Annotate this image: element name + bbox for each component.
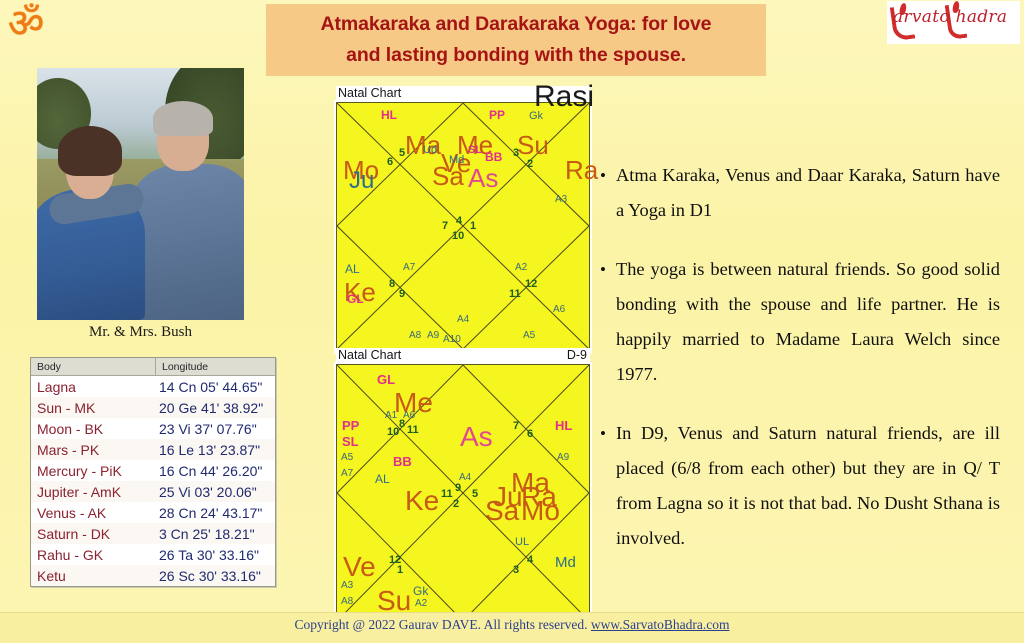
rasi-chart-block: Natal Chart Rasi MaMoJuMeVeSaAsSuRaKeMdU… <box>336 86 590 352</box>
title-banner: Atmakaraka and Darakaraka Yoga: for love… <box>266 4 766 76</box>
om-glyph: ॐ <box>8 4 44 44</box>
d9-chart-header: Natal Chart D-9 <box>336 348 590 364</box>
marker-bb: BB <box>393 455 412 468</box>
house-number: 11 <box>441 489 453 500</box>
house-number: 8 <box>399 419 405 430</box>
cell-body: Venus - AK <box>31 505 155 521</box>
planet-ju: Ju <box>349 169 374 193</box>
cell-longitude: 20 Ge 41' 38.92" <box>155 400 275 416</box>
copyright-text: Copyright @ 2022 Gaurav DAVE. All rights… <box>295 617 591 632</box>
house-number: 9 <box>455 483 461 494</box>
planet-sa: Sa <box>432 163 464 189</box>
house-number: 6 <box>527 429 533 440</box>
d9-chart-canvas[interactable]: MeAsKeMaJuRaSaMoVeSuMdULGkGLPPSLHLBBALA5… <box>336 364 590 624</box>
house-number: 10 <box>387 427 399 438</box>
bush-photo <box>37 68 244 320</box>
table-row: Ketu26 Sc 30' 33.16" <box>31 565 275 586</box>
marker-a7: A7 <box>341 469 353 479</box>
bullet-dot-icon: • <box>600 158 616 228</box>
table-row: Venus - AK28 Cn 24' 43.17" <box>31 502 275 523</box>
bullet-text: In D9, Venus and Saturn natural friends,… <box>616 416 1000 556</box>
planet-ve: Ve <box>343 553 376 581</box>
house-number: 10 <box>452 231 464 242</box>
bush-photo-figure: Mr. & Mrs. Bush <box>37 68 244 320</box>
house-number: 5 <box>472 489 478 500</box>
house-number: 2 <box>453 499 459 510</box>
house-number: 2 <box>527 159 533 170</box>
bullet-list: •Atma Karaka, Venus and Daar Karaka, Sat… <box>600 158 1000 580</box>
marker-al: AL <box>345 263 360 275</box>
cell-longitude: 26 Sc 30' 33.16" <box>155 568 275 584</box>
bullet-item: •In D9, Venus and Saturn natural friends… <box>600 416 1000 556</box>
marker-a5: A5 <box>341 453 353 463</box>
rasi-chart-title: Rasi <box>534 80 594 114</box>
bullet-item: •The yoga is between natural friends. So… <box>600 252 1000 392</box>
table-row: Rahu - GK26 Ta 30' 33.16" <box>31 544 275 565</box>
planet-gk: Gk <box>413 585 428 597</box>
bullet-dot-icon: • <box>600 252 616 392</box>
planet-md: Md <box>449 155 464 166</box>
planet-ke: Ke <box>405 487 439 515</box>
house-number: 7 <box>513 421 519 432</box>
cell-body: Lagna <box>31 379 155 395</box>
column-header-longitude: Longitude <box>155 358 275 375</box>
cell-body: Ketu <box>31 568 155 584</box>
marker-sl: SL <box>342 435 359 448</box>
logo-text: arvato hadra <box>893 7 1017 27</box>
table-row: Mars - PK16 Le 13' 23.87" <box>31 439 275 460</box>
marker-al: AL <box>375 473 390 485</box>
cell-longitude: 14 Cn 05' 44.65" <box>155 379 275 395</box>
cell-longitude: 16 Cn 44' 26.20" <box>155 463 275 479</box>
page-title-line2: and lasting bonding with the spouse. <box>346 40 686 71</box>
d9-chart-title: D-9 <box>567 348 587 362</box>
cell-body: Moon - BK <box>31 421 155 437</box>
d9-natal-label: Natal Chart <box>338 348 401 362</box>
marker-a8: A8 <box>409 331 421 341</box>
house-number: 3 <box>513 565 519 576</box>
table-row: Lagna14 Cn 05' 44.65" <box>31 376 275 397</box>
house-number: 7 <box>442 221 448 232</box>
planet-ra: Ra <box>565 157 598 183</box>
house-number: 9 <box>399 289 405 300</box>
cell-longitude: 16 Le 13' 23.87" <box>155 442 275 458</box>
planet-gl: GL <box>347 293 364 305</box>
table-row: Mercury - PiK16 Cn 44' 26.20" <box>31 460 275 481</box>
planet-ud: Ud <box>423 145 437 156</box>
bullet-text: Atma Karaka, Venus and Daar Karaka, Satu… <box>616 158 1000 228</box>
planet-su: Su <box>377 587 411 615</box>
marker-pp: PP <box>342 419 359 432</box>
planet-as: As <box>468 165 498 191</box>
page-title-line1: Atmakaraka and Darakaraka Yoga: for love <box>321 9 712 40</box>
rasi-natal-label: Natal Chart <box>338 86 401 100</box>
marker-pp: PP <box>489 109 505 121</box>
cell-longitude: 23 Vi 37' 07.76" <box>155 421 275 437</box>
marker-a4: A4 <box>457 315 469 325</box>
marker-a2: A2 <box>415 599 427 609</box>
bullet-dot-icon: • <box>600 416 616 556</box>
planet-sl: SL <box>468 145 482 156</box>
table-row: Moon - BK23 Vi 37' 07.76" <box>31 418 275 439</box>
footer: Copyright @ 2022 Gaurav DAVE. All rights… <box>0 617 1024 633</box>
marker-a2: A2 <box>515 263 527 273</box>
planet-ul: UL <box>515 537 529 548</box>
table-body: Lagna14 Cn 05' 44.65"Sun - MK20 Ge 41' 3… <box>31 376 275 586</box>
house-number: 1 <box>397 565 403 576</box>
marker-gl: GL <box>377 373 395 386</box>
marker-a9: A9 <box>557 453 569 463</box>
marker-a6: A6 <box>553 305 565 315</box>
d9-chart-block: Natal Chart D-9 MeAsKeMaJuRaSaMoVeSuMdUL… <box>336 348 590 624</box>
marker-hl: HL <box>381 109 397 121</box>
cell-body: Saturn - DK <box>31 526 155 542</box>
marker-a3: A3 <box>555 195 567 205</box>
rasi-chart-canvas[interactable]: MaMoJuMeVeSaAsSuRaKeMdUdSLGLHLPPGkBBALA3… <box>336 102 590 352</box>
table-header-row: Body Longitude <box>31 358 275 376</box>
photo-woman-hair <box>58 126 122 176</box>
cell-longitude: 26 Ta 30' 33.16" <box>155 547 275 563</box>
website-link[interactable]: www.SarvatoBhadra.com <box>591 617 730 632</box>
table-row: Sun - MK20 Ge 41' 38.92" <box>31 397 275 418</box>
rasi-chart-header: Natal Chart Rasi <box>336 86 590 102</box>
planet-md: Md <box>555 555 576 570</box>
marker-a9: A9 <box>427 331 439 341</box>
cell-body: Mercury - PiK <box>31 463 155 479</box>
cell-body: Rahu - GK <box>31 547 155 563</box>
house-number: 12 <box>525 279 537 290</box>
cell-body: Sun - MK <box>31 400 155 416</box>
house-number: 11 <box>407 425 419 436</box>
photo-man-hair <box>153 101 213 136</box>
cell-longitude: 28 Cn 24' 43.17" <box>155 505 275 521</box>
cell-longitude: 3 Cn 25' 18.21" <box>155 526 275 542</box>
photo-caption: Mr. & Mrs. Bush <box>37 324 244 341</box>
planet-su: Su <box>517 132 549 158</box>
marker-a5: A5 <box>523 331 535 341</box>
bullet-text: The yoga is between natural friends. So … <box>616 252 1000 392</box>
marker-a3: A3 <box>341 581 353 591</box>
house-number: 8 <box>389 279 395 290</box>
marker-a8: A8 <box>341 597 353 607</box>
cell-body: Jupiter - AmK <box>31 484 155 500</box>
table-row: Jupiter - AmK25 Vi 03' 20.06" <box>31 481 275 502</box>
marker-a7: A7 <box>403 263 415 273</box>
slide-page: ॐ Atmakaraka and Darakaraka Yoga: for lo… <box>0 0 1024 642</box>
house-number: 4 <box>456 216 462 227</box>
bullet-item: •Atma Karaka, Venus and Daar Karaka, Sat… <box>600 158 1000 228</box>
planet-mo: Mo <box>521 497 560 525</box>
photo-man-body <box>128 164 244 320</box>
house-number: 5 <box>399 148 405 159</box>
house-number: 11 <box>509 289 521 300</box>
planet-sa: Sa <box>485 497 519 525</box>
table-row: Saturn - DK 3 Cn 25' 18.21" <box>31 523 275 544</box>
marker-a10: A10 <box>443 335 461 345</box>
sarvatobhadra-logo[interactable]: arvato hadra <box>887 1 1020 44</box>
house-number: 6 <box>387 157 393 168</box>
cell-longitude: 25 Vi 03' 20.06" <box>155 484 275 500</box>
house-number: 4 <box>527 555 533 566</box>
cell-body: Mars - PK <box>31 442 155 458</box>
house-number: 1 <box>470 221 476 232</box>
marker-bb: BB <box>485 151 502 163</box>
marker-a1: A1 <box>385 411 397 421</box>
om-icon: ॐ <box>4 2 48 46</box>
planet-as: As <box>460 423 493 451</box>
marker-hl: HL <box>555 419 572 432</box>
house-number: 3 <box>513 148 519 159</box>
planetary-positions-table: Body Longitude Lagna14 Cn 05' 44.65"Sun … <box>30 357 276 587</box>
column-header-body: Body <box>31 361 155 373</box>
